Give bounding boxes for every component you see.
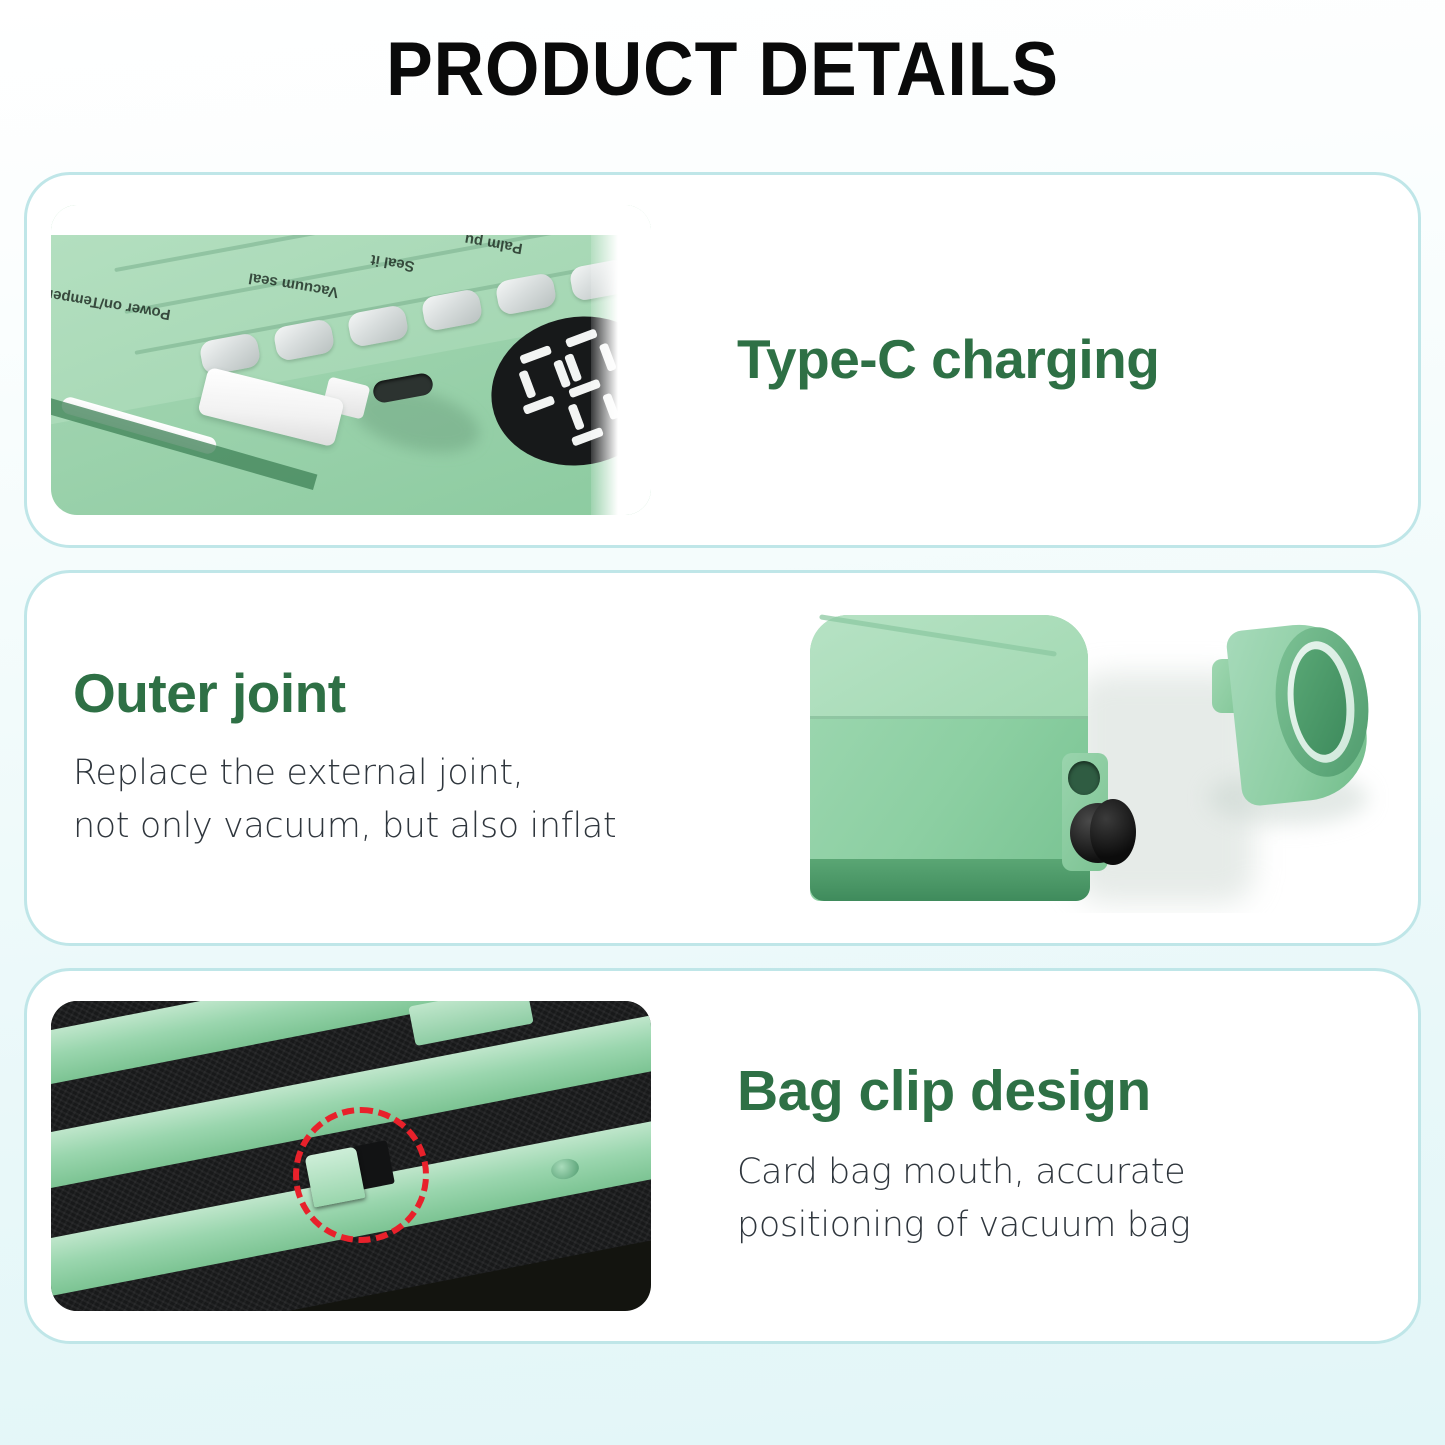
product-photo-bag-clip-design	[51, 1001, 651, 1311]
card-body-line: Replace the external joint,	[73, 747, 708, 800]
detail-card-outer-joint: Outer joint Replace the external joint, …	[24, 570, 1421, 946]
page-title: PRODUCT DETAILS	[58, 0, 1387, 113]
card-text-bag-clip-design: Bag clip design Card bag mouth, accurate…	[675, 1060, 1418, 1252]
photo-backdrop-top	[51, 205, 651, 235]
card-heading: Type-C charging	[737, 329, 1384, 391]
detail-card-bag-clip-design: Bag clip design Card bag mouth, accurate…	[24, 968, 1421, 1344]
card-body: Replace the external joint, not only vac…	[73, 747, 708, 853]
card-heading: Outer joint	[73, 663, 708, 725]
sealer-lid	[810, 615, 1088, 719]
sealer-base	[810, 859, 1090, 901]
product-photo-outer-joint	[794, 603, 1394, 913]
card-text-outer-joint: Outer joint Replace the external joint, …	[27, 663, 770, 853]
card-text-type-c-charging: Type-C charging	[675, 329, 1418, 391]
air-port-hole	[1068, 761, 1100, 795]
photo-backdrop-right	[591, 205, 651, 515]
detail-card-list: Power on/Temperature Vacuum seal Seal it…	[24, 172, 1421, 1344]
card-body-line: not only vacuum, but also inflat	[73, 800, 708, 853]
product-photo-type-c-charging: Power on/Temperature Vacuum seal Seal it…	[51, 205, 651, 515]
rubber-plug-cap	[1090, 799, 1136, 865]
card-heading: Bag clip design	[737, 1060, 1384, 1124]
card-body-line: Card bag mouth, accurate	[737, 1146, 1384, 1199]
card-body-line: positioning of vacuum bag	[737, 1199, 1384, 1252]
detail-card-type-c-charging: Power on/Temperature Vacuum seal Seal it…	[24, 172, 1421, 548]
highlight-dashed-circle-icon	[293, 1107, 429, 1243]
card-body: Card bag mouth, accurate positioning of …	[737, 1146, 1384, 1252]
